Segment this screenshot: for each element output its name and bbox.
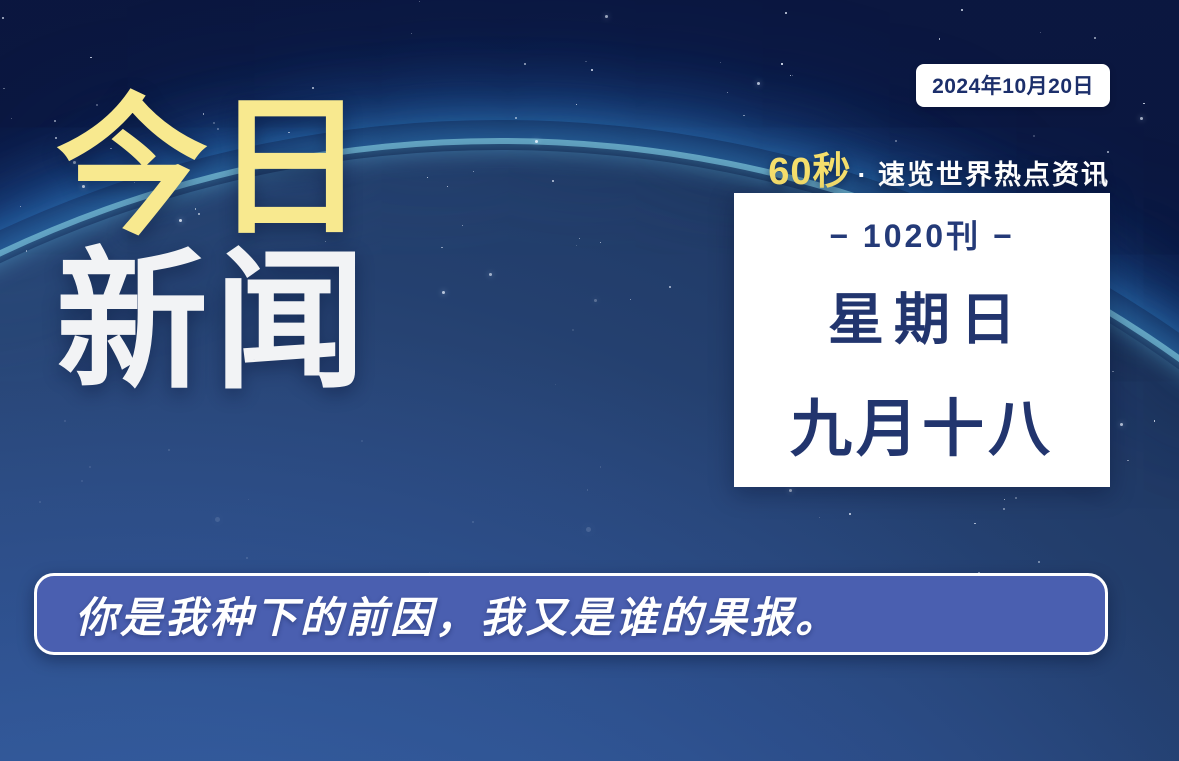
brand-title: 今日 新闻 — [56, 96, 476, 396]
brand-title-line2: 新闻 — [56, 250, 476, 396]
lunar-date-label: 九月十八 — [790, 378, 1054, 468]
tagline-rest: · 速览世界热点资讯 — [858, 153, 1111, 192]
brand-title-line1: 今日 — [56, 96, 476, 242]
issue-number: − 1020刊 − — [829, 211, 1014, 257]
tagline-highlight: 60秒 — [768, 140, 851, 195]
weekday-label: 星期日 — [818, 275, 1026, 356]
tagline: 60秒 · 速览世界热点资讯 — [768, 140, 1110, 195]
issue-card: − 1020刊 − 星期日 九月十八 — [734, 193, 1110, 487]
date-badge: 2024年10月20日 — [916, 64, 1110, 107]
news-poster: 今日 新闻 2024年10月20日 60秒 · 速览世界热点资讯 − 1020刊… — [0, 0, 1179, 761]
quote-text: 你是我种下的前因，我又是谁的果报。 — [75, 584, 840, 645]
quote-bar: 你是我种下的前因，我又是谁的果报。 — [34, 573, 1108, 655]
